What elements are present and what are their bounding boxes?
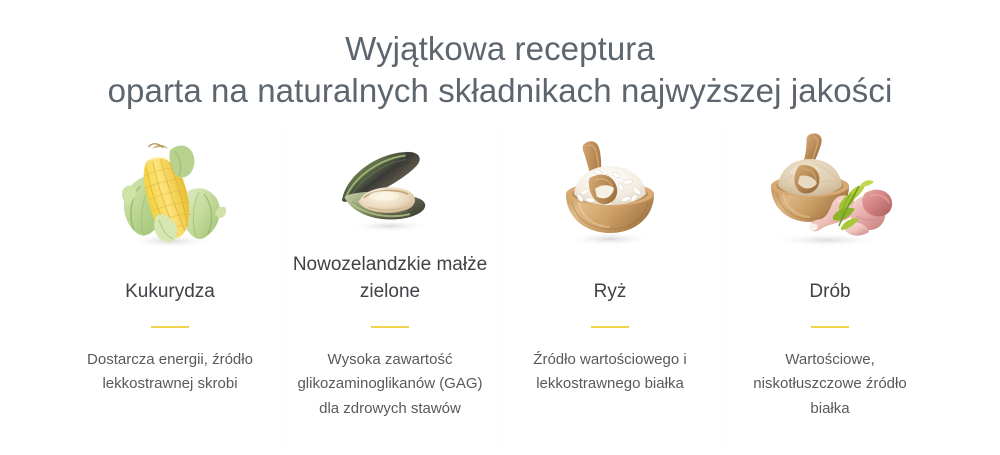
rice-bowl-image: [508, 126, 712, 250]
ingredients-section: Wyjątkowa receptura oparta na naturalnyc…: [0, 22, 1000, 455]
page-title-line-1: Wyjątkowa receptura: [0, 28, 1000, 70]
page-title-line-2: oparta na naturalnych składnikach najwyż…: [0, 70, 1000, 112]
ingredient-description: Dostarcza energii, źródło lekkostrawnej …: [68, 348, 272, 397]
ingredient-title-text: Kukurydza: [70, 279, 270, 306]
page-title: Wyjątkowa receptura oparta na naturalnyc…: [0, 22, 1000, 112]
ingredient-description: Wartościowe, niskotłuszczowe źródło biał…: [728, 348, 932, 421]
ingredient-title: Drób: [728, 252, 932, 306]
ingredient-description: Źródło wartościowego i lekkostrawnego bi…: [508, 348, 712, 397]
ingredient-title: Nowozelandzkie małże zielone: [288, 252, 492, 306]
ingredient-title: Kukurydza: [68, 252, 272, 306]
accent-divider: [811, 326, 849, 328]
accent-divider: [151, 326, 189, 328]
ingredient-columns: Kukurydza Dostarcza energii, źródło lekk…: [60, 126, 940, 448]
ingredient-card-corn: Kukurydza Dostarcza energii, źródło lekk…: [60, 126, 280, 448]
poultry-image: [728, 126, 932, 250]
green-lipped-mussel-image: [288, 126, 492, 250]
accent-divider: [591, 326, 629, 328]
accent-divider: [371, 326, 409, 328]
ingredient-card-mussel: Nowozelandzkie małże zielone Wysoka zawa…: [280, 126, 500, 448]
ingredient-title-text: Drób: [730, 279, 930, 306]
ingredient-card-poultry: Drób Wartościowe, niskotłuszczowe źródło…: [720, 126, 940, 448]
corn-cobs-image: [68, 126, 272, 250]
ingredient-description: Wysoka zawartość glikozaminoglikanów (GA…: [288, 348, 492, 421]
ingredient-title-text: Nowozelandzkie małże zielone: [290, 252, 490, 306]
ingredient-title: Ryż: [508, 252, 712, 306]
ingredient-title-text: Ryż: [510, 279, 710, 306]
ingredient-card-rice: Ryż Źródło wartościowego i lekkostrawneg…: [500, 126, 720, 448]
